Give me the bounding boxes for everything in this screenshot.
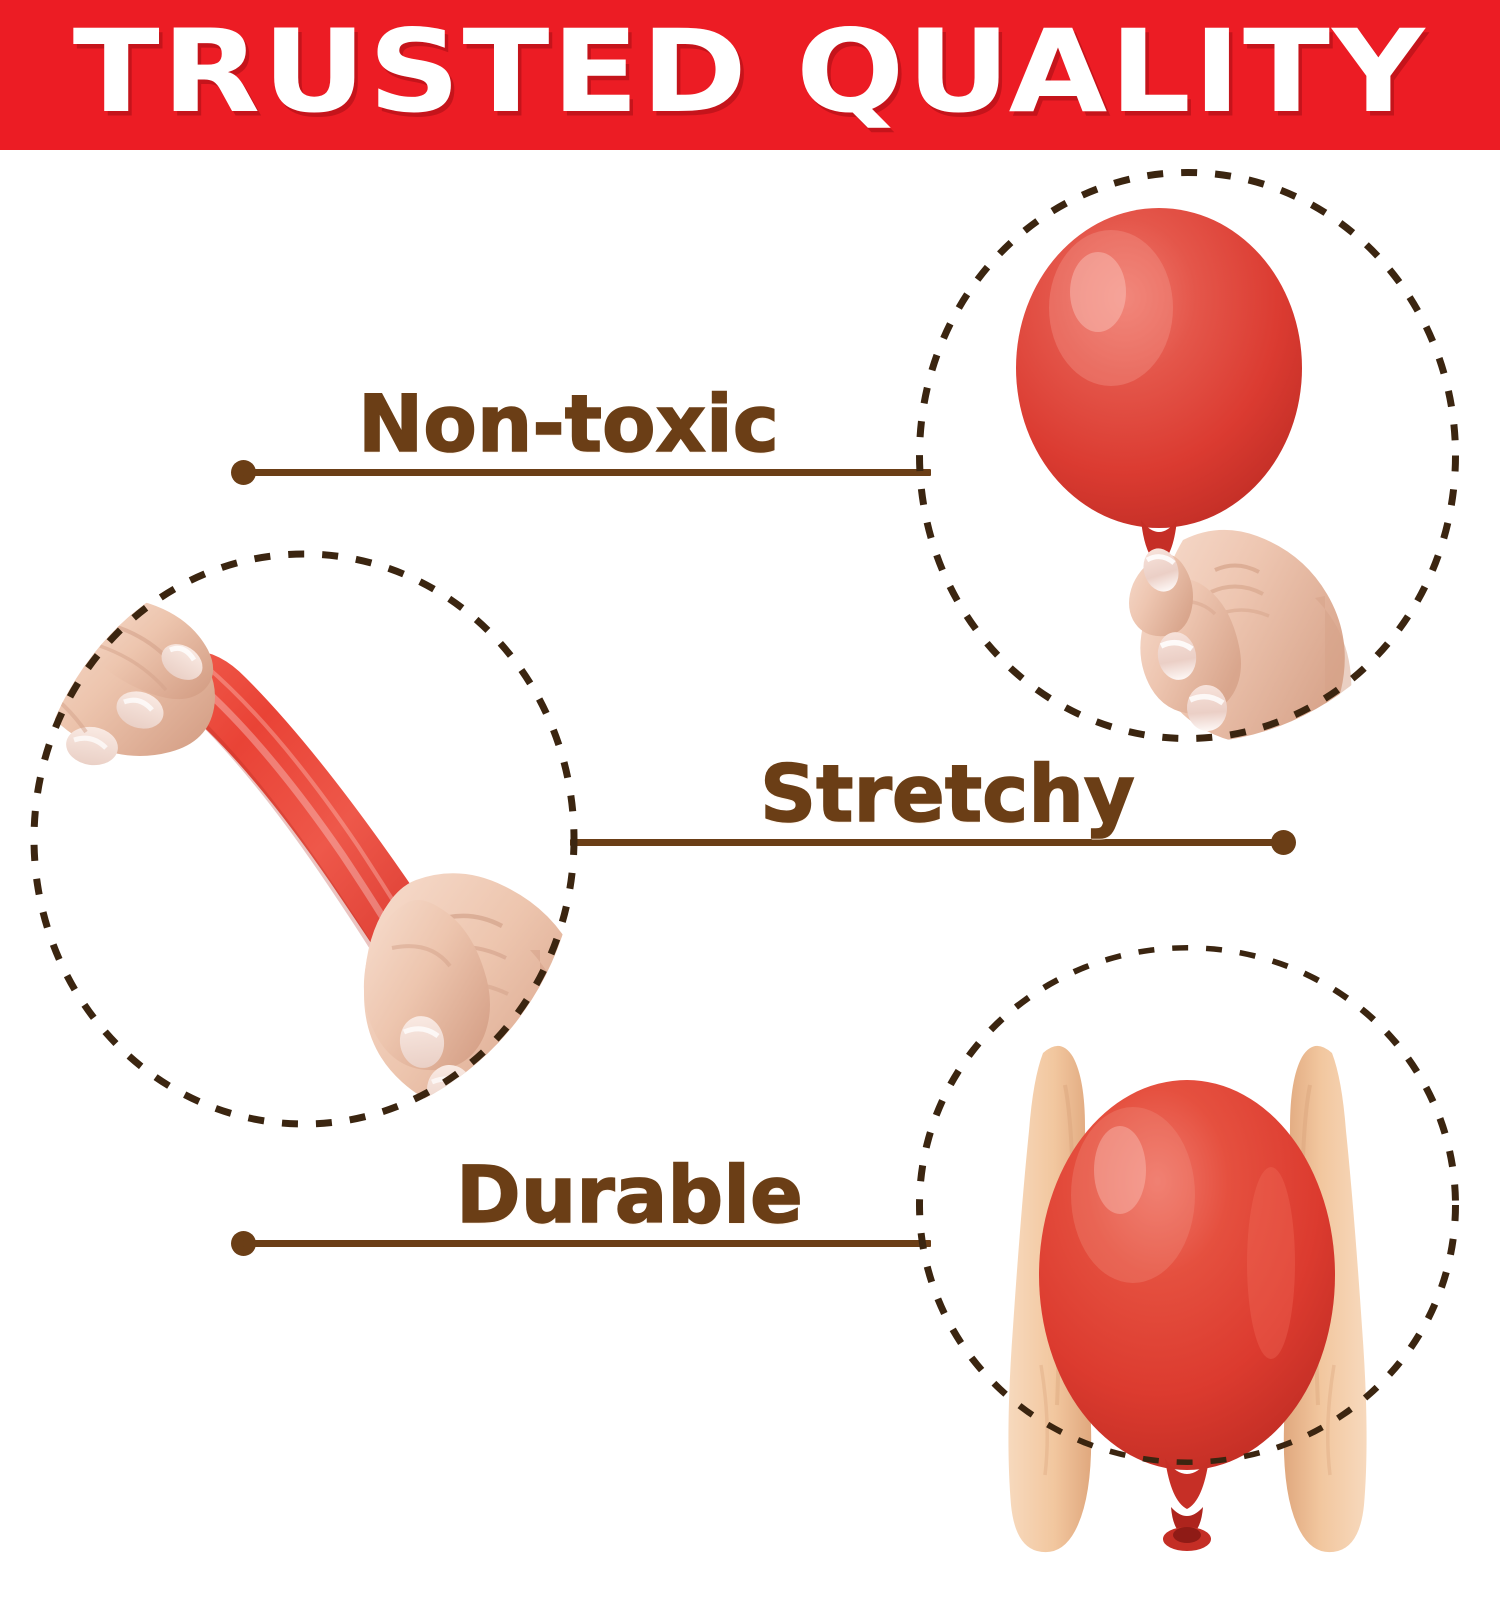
page-title: TRUSTED QUALITY (73, 16, 1427, 130)
balloon-pressed-illustration (915, 945, 1460, 1605)
feature-label-non-toxic: Non-toxic (358, 386, 779, 464)
infographic-stage: Non-toxic (0, 150, 1500, 1470)
connector-dot-stretchy (1271, 830, 1296, 855)
connector-line-stretchy (570, 839, 1284, 846)
connector-line-durable (243, 1240, 931, 1247)
header-banner: TRUSTED QUALITY (0, 0, 1500, 150)
feature-image-durable (915, 945, 1460, 1465)
connector-line-non-toxic (243, 469, 931, 476)
feature-label-durable: Durable (456, 1157, 803, 1235)
feature-label-stretchy: Stretchy (760, 756, 1135, 834)
feature-image-clip-durable (915, 945, 1460, 1465)
